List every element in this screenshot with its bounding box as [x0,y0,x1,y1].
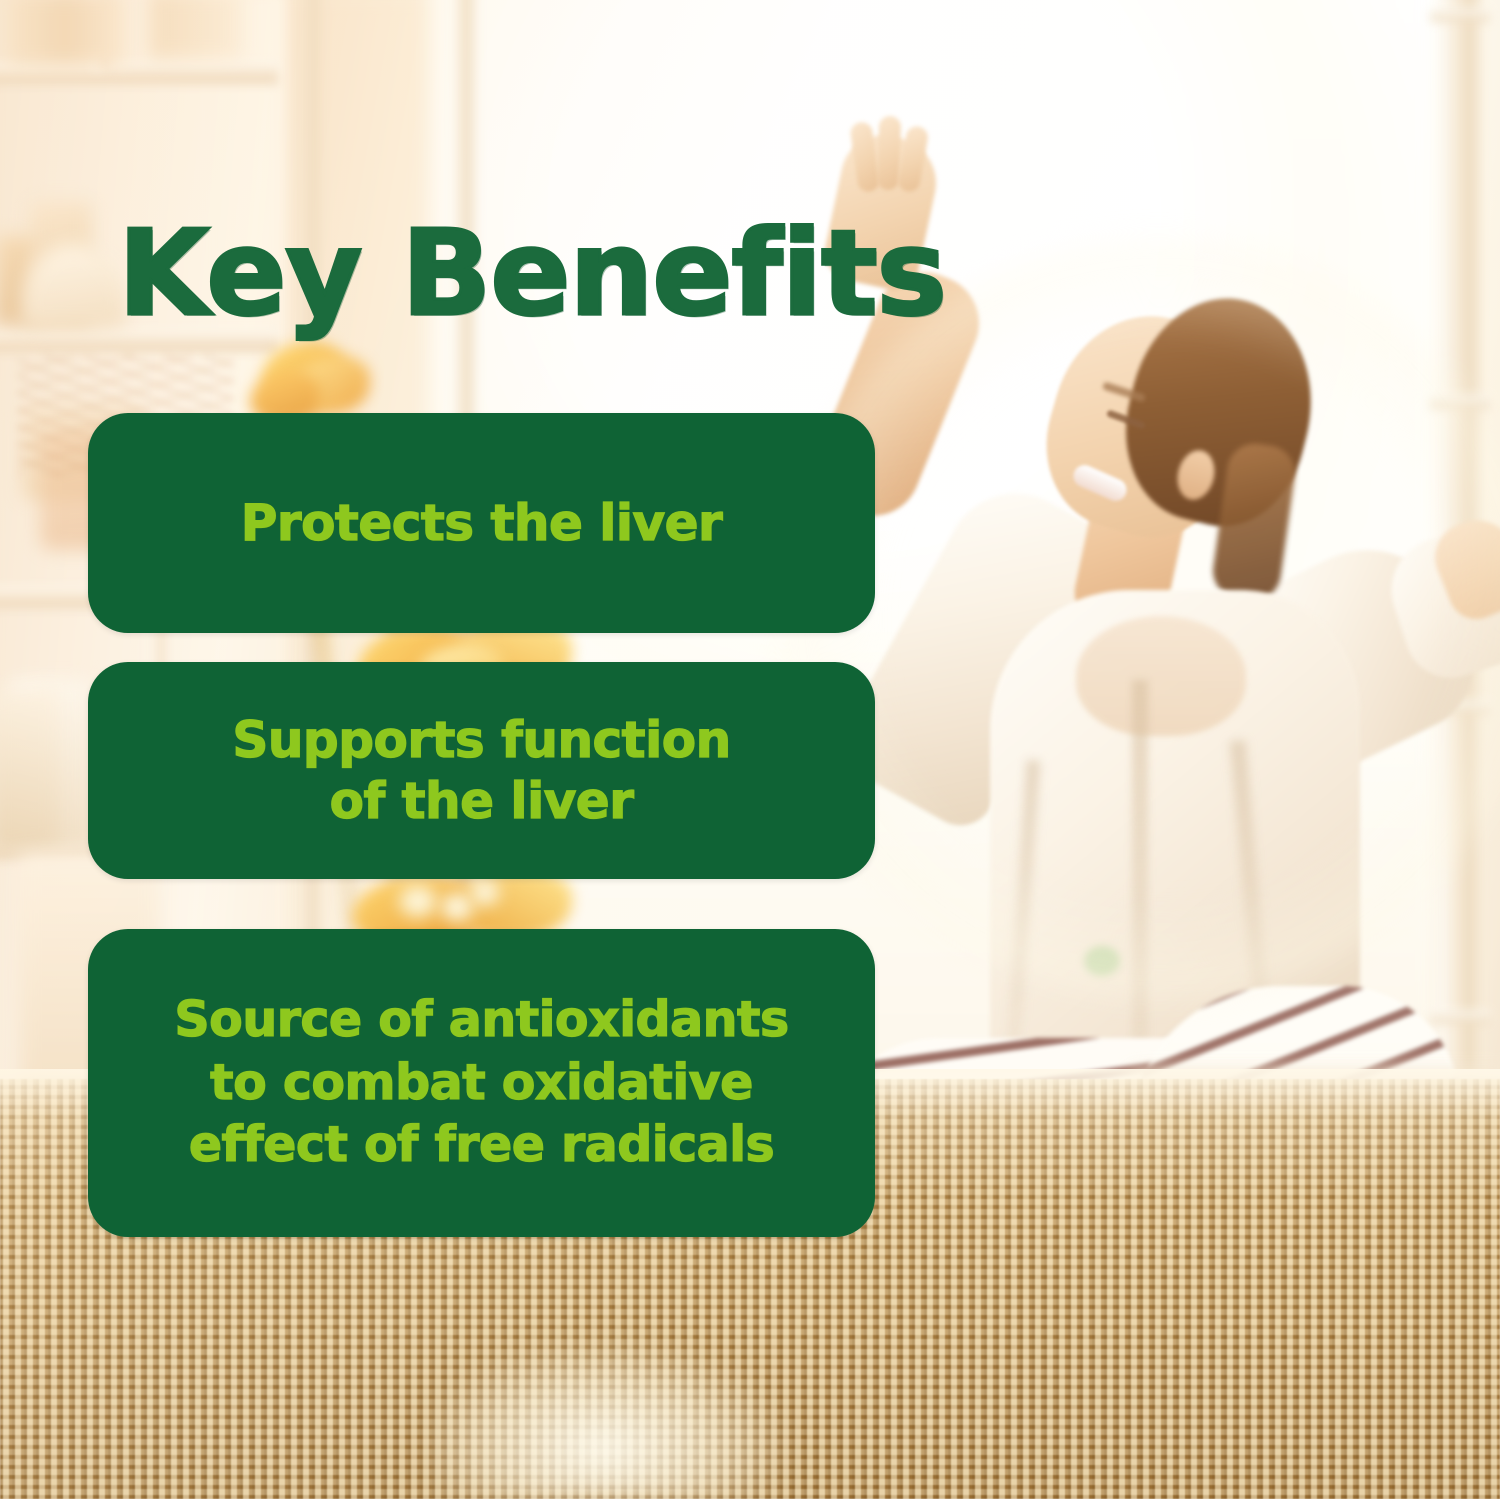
benefit-card-text: Protects the liver [213,493,750,554]
benefit-card-text: Supports function of the liver [204,710,758,832]
benefit-line: Supports function [232,710,730,771]
benefit-card-antioxidant-source[interactable]: Source of antioxidants to combat oxidati… [88,929,875,1237]
benefit-line: Protects the liver [241,493,722,554]
infographic-canvas: Key Benefits Protects the liver Supports… [0,0,1500,1499]
overlay-content: Key Benefits Protects the liver Supports… [0,0,1500,1499]
benefit-line: Source of antioxidants [174,989,788,1052]
benefit-line: of the liver [232,771,730,832]
benefits-list: Protects the liver Supports function of … [88,413,875,1237]
benefit-card-text: Source of antioxidants to combat oxidati… [146,989,816,1177]
benefit-card-supports-function[interactable]: Supports function of the liver [88,662,875,879]
page-title: Key Benefits [118,214,946,332]
benefit-line: effect of free radicals [174,1114,788,1177]
benefit-line: to combat oxidative [174,1052,788,1115]
benefit-card-protects-liver[interactable]: Protects the liver [88,413,875,633]
